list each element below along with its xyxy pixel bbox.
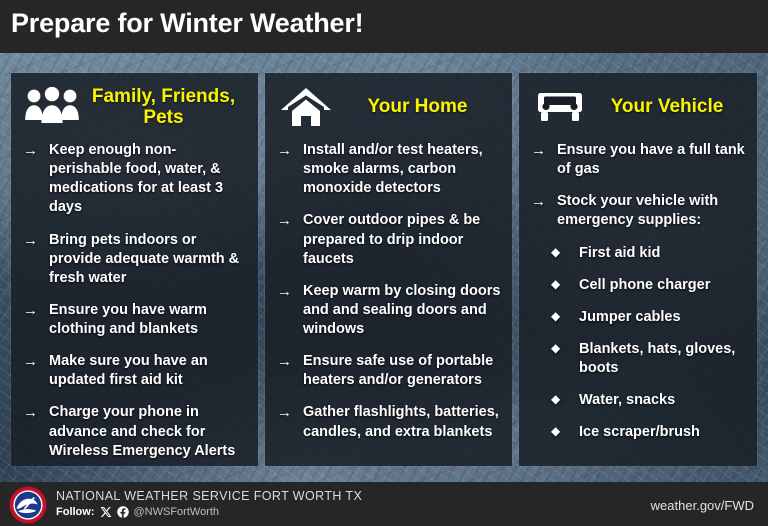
list-item: → Bring pets indoors or provide adequate… [19,231,248,288]
diamond-icon: ◆ [551,276,579,293]
arrow-icon: → [273,211,303,231]
card-your-home: Your Home → Install and/or test heaters,… [265,73,512,466]
card-header: Family, Friends, Pets [11,73,258,135]
list-item: → Keep warm by closing doors and and sea… [273,282,502,339]
footer-organization: NATIONAL WEATHER SERVICE FORT WORTH TX [56,489,362,503]
card-title: Your Home [337,96,502,117]
list-item: → Gather flashlights, batteries, candles… [273,403,502,441]
list-item: ◆ Blankets, hats, gloves, boots [551,340,751,378]
arrow-icon: → [19,352,49,372]
list-item-text: Stock your vehicle with emergency suppli… [557,192,747,230]
list-item: ◆ Ice scraper/brush [551,423,751,442]
list-item-text: Ensure you have a full tank of gas [557,141,747,179]
card-header: Your Home [265,73,512,135]
arrow-icon: → [527,192,557,212]
list-item-text: Keep enough non-perishable food, water, … [49,141,248,218]
list-item-text: Ice scraper/brush [579,423,751,442]
page-title: Prepare for Winter Weather! [11,8,363,39]
arrow-icon: → [273,141,303,161]
arrow-icon: → [527,141,557,161]
sub-bullet-list: ◆ First aid kid ◆ Cell phone charger ◆ J… [519,244,757,443]
card-title: Family, Friends, Pets [83,86,248,129]
diamond-icon: ◆ [551,391,579,408]
arrow-icon: → [19,231,49,251]
diamond-icon: ◆ [551,244,579,261]
arrow-icon: → [273,352,303,372]
house-icon [275,86,337,128]
list-item: ◆ Jumper cables [551,308,751,327]
list-item-text: Bring pets indoors or provide adequate w… [49,231,248,288]
list-item-text: Jumper cables [579,308,751,327]
card-title: Your Vehicle [591,96,747,117]
social-handle[interactable]: @NWSFortWorth [134,506,220,518]
list-item-text: Keep warm by closing doors and and seali… [303,282,502,339]
list-item-text: Make sure you have an updated first aid … [49,352,248,390]
diamond-icon: ◆ [551,423,579,440]
infographic-page: Prepare for Winter Weather! Family, Frie… [0,0,768,526]
arrow-icon: → [19,403,49,423]
x-twitter-icon[interactable] [100,506,112,518]
diamond-icon: ◆ [551,308,579,325]
list-item: → Ensure you have warm clothing and blan… [19,301,248,339]
list-item-text: Install and/or test heaters, smoke alarm… [303,141,502,198]
list-item-text: Cover outdoor pipes & be prepared to dri… [303,211,502,268]
list-item: → Cover outdoor pipes & be prepared to d… [273,211,502,268]
list-item-text: Charge your phone in advance and check f… [49,403,248,460]
list-item: ◆ Water, snacks [551,391,751,410]
people-group-icon [21,87,83,127]
bullet-list: → Keep enough non-perishable food, water… [11,141,258,461]
list-item-text: Water, snacks [579,391,751,410]
list-item-text: First aid kid [579,244,751,263]
header-bar: Prepare for Winter Weather! [0,0,768,53]
card-family-friends-pets: Family, Friends, Pets → Keep enough non-… [11,73,258,466]
footer-url[interactable]: weather.gov/FWD [651,498,754,513]
arrow-icon: → [273,403,303,423]
list-item-text: Ensure safe use of portable heaters and/… [303,352,502,390]
list-item: ◆ First aid kid [551,244,751,263]
arrow-icon: → [19,301,49,321]
list-item-text: Blankets, hats, gloves, boots [579,340,751,378]
card-header: Your Vehicle [519,73,757,135]
diamond-icon: ◆ [551,340,579,357]
list-item-text: Gather flashlights, batteries, candles, … [303,403,502,441]
list-item: → Ensure you have a full tank of gas [527,141,747,179]
list-item: ◆ Cell phone charger [551,276,751,295]
noaa-nws-seal-icon [9,486,47,524]
card-your-vehicle: Your Vehicle → Ensure you have a full ta… [519,73,757,466]
list-item: → Charge your phone in advance and check… [19,403,248,460]
list-item: → Keep enough non-perishable food, water… [19,141,248,218]
list-item-text: Cell phone charger [579,276,751,295]
list-item: → Install and/or test heaters, smoke ala… [273,141,502,198]
car-icon [529,87,591,127]
list-item: → Ensure safe use of portable heaters an… [273,352,502,390]
list-item-text: Ensure you have warm clothing and blanke… [49,301,248,339]
follow-label: Follow: [56,506,95,518]
list-item: → Stock your vehicle with emergency supp… [527,192,747,230]
list-item: → Make sure you have an updated first ai… [19,352,248,390]
bullet-list: → Ensure you have a full tank of gas → S… [519,141,757,231]
bullet-list: → Install and/or test heaters, smoke ala… [265,141,512,442]
arrow-icon: → [273,282,303,302]
footer-follow-group: Follow: @NWSFortWorth [56,506,219,518]
facebook-icon[interactable] [117,506,129,518]
arrow-icon: → [19,141,49,161]
